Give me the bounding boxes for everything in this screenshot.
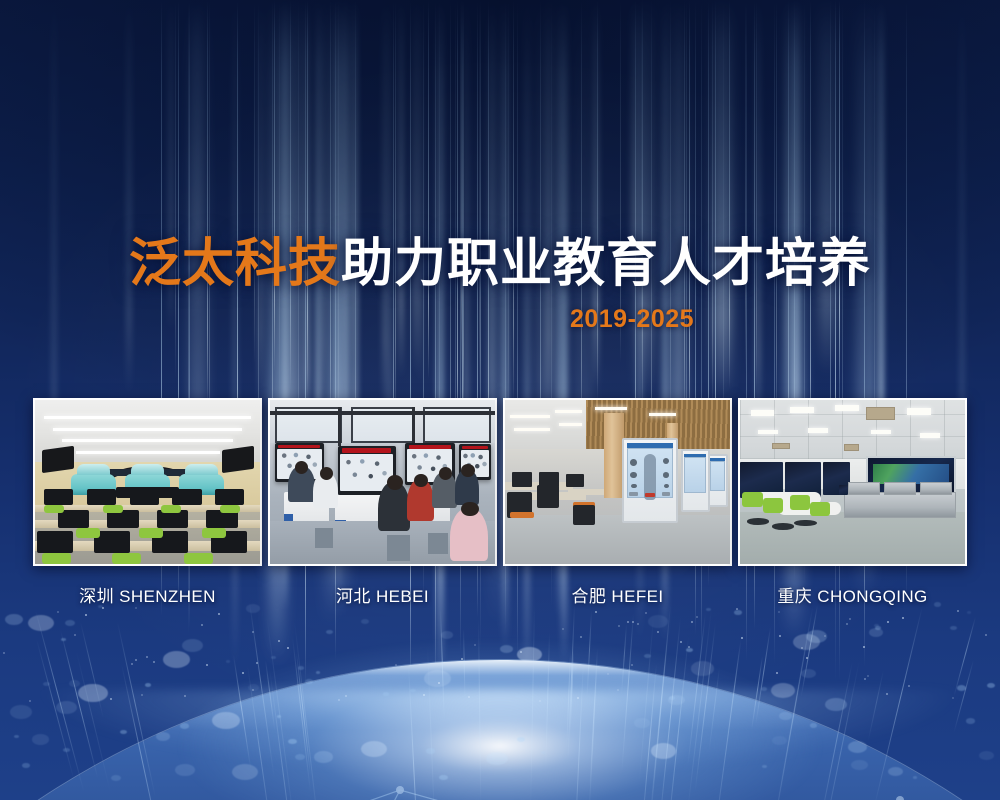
- photo-gallery: [33, 398, 967, 566]
- gallery-item-hefei[interactable]: [503, 398, 732, 566]
- caption-chongqing: 重庆 CHONGQING: [738, 582, 967, 607]
- caption-shenzhen: 深圳 SHENZHEN: [33, 582, 262, 607]
- photo-shenzhen-smart-vehicle-classroom: [35, 400, 260, 564]
- gallery-item-hebei[interactable]: [268, 398, 497, 566]
- caption-hebei: 河北 HEBEI: [268, 582, 497, 607]
- headline-rest: 助力职业教育人才培养: [341, 235, 871, 293]
- promo-banner: 泛太科技助力职业教育人才培养 2019-2025: [0, 0, 1000, 800]
- brand-name: 泛太科技: [129, 235, 341, 293]
- caption-row: 深圳 SHENZHEN 河北 HEBEI 合肥 HEFEI 重庆 CHONGQI…: [33, 582, 967, 607]
- caption-hefei: 合肥 HEFEI: [503, 582, 732, 607]
- subtitle-container: 2019-2025: [0, 305, 1000, 334]
- gallery-item-shenzhen[interactable]: [33, 398, 262, 566]
- page-title: 泛太科技助力职业教育人才培养: [129, 234, 871, 294]
- photo-chongqing-smart-manufacturing-lab: [740, 400, 965, 564]
- gallery-item-chongqing[interactable]: [738, 398, 967, 566]
- headline-container: 泛太科技助力职业教育人才培养: [0, 234, 1000, 294]
- date-range: 2019-2025: [570, 305, 694, 334]
- photo-hebei-electrical-training-lab: [270, 400, 495, 564]
- photo-hefei-display-cabinet-lab: [505, 400, 730, 564]
